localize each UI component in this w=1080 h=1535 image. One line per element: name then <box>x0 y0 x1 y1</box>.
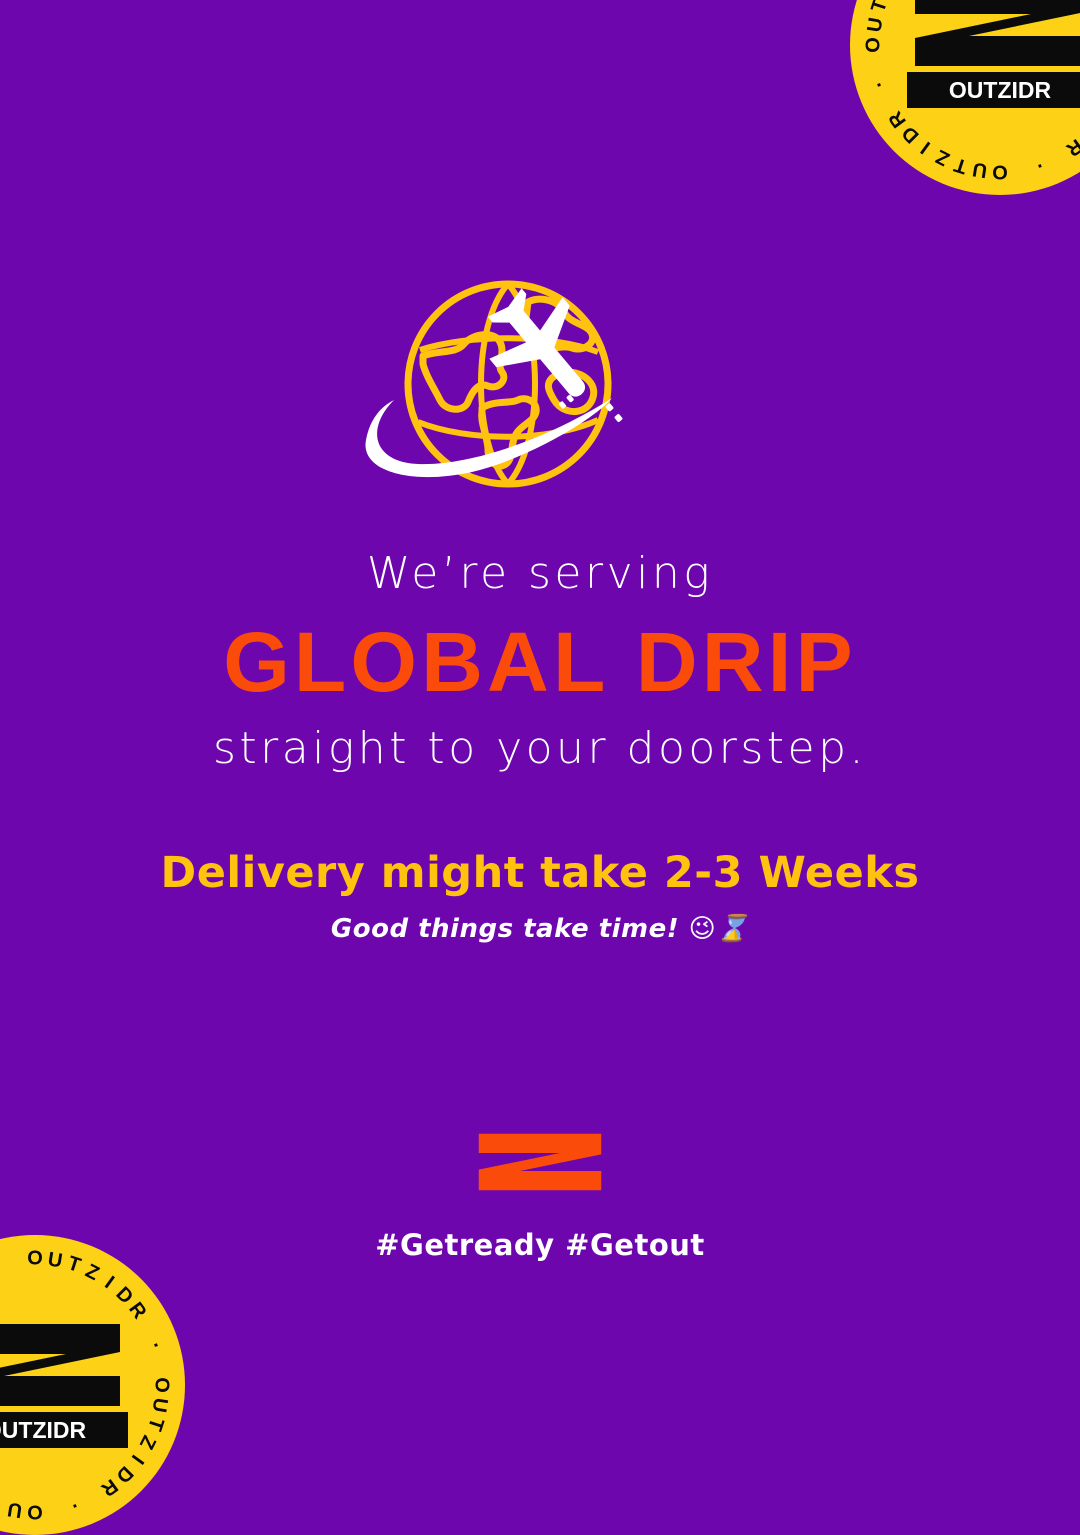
svg-text:OUTZIDR: OUTZIDR <box>949 77 1052 103</box>
outzidr-seal-bottom-left: OUTZIDR · OUTZIDR · OUTZIDR · OUTZIDR · … <box>0 1235 185 1535</box>
delivery-subnote: Good things take time! 😉⌛ <box>0 914 1080 944</box>
outzidr-wordmark-icon: OUTZIDR <box>920 77 1080 103</box>
globe-airplane-icon <box>360 272 720 502</box>
headline-line-1: We’re serving <box>0 548 1080 600</box>
headline-block: We’re serving GLOBAL DRIP straight to yo… <box>0 548 1080 944</box>
hashtags-text: #Getready #Getout <box>0 1228 1080 1262</box>
delivery-notice: Delivery might take 2-3 Weeks <box>0 848 1080 898</box>
outzidr-wordmark-icon: OUTZIDR <box>0 1417 115 1443</box>
outzidr-seal-top-right: OUTZIDR · OUTZIDR · OUTZIDR · OUTZIDR · … <box>850 0 1080 195</box>
seal-center-logo-bottom-left: OUTZIDR <box>0 1322 128 1448</box>
z-logo-icon <box>476 1118 604 1206</box>
seal-center-logo-top-right: OUTZIDR <box>907 0 1080 108</box>
headline-line-3: straight to your doorstep. <box>0 723 1080 776</box>
z-logo-icon <box>907 0 1080 68</box>
seal-wordmark-bottom-left: OUTZIDR <box>0 1412 128 1448</box>
svg-text:OUTZIDR: OUTZIDR <box>0 1417 86 1443</box>
footer-block: #Getready #Getout <box>0 1118 1080 1262</box>
globe-airplane-artwork <box>360 272 720 502</box>
seal-wordmark-top-right: OUTZIDR <box>907 72 1080 108</box>
z-logo-icon <box>0 1322 128 1408</box>
headline-line-2: GLOBAL DRIP <box>0 610 1080 715</box>
